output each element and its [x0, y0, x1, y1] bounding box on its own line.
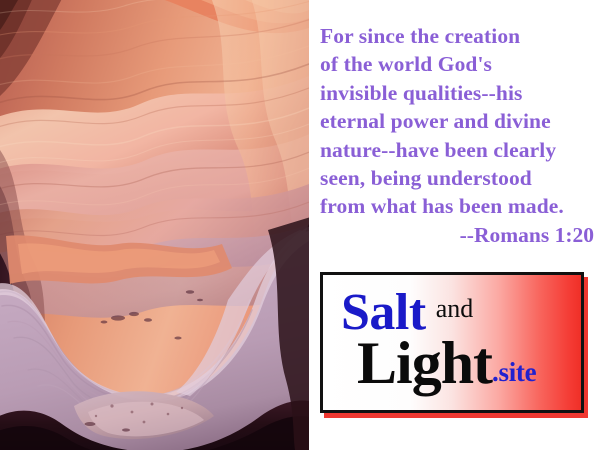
logo-word-light: Light: [357, 330, 492, 396]
verse-attribution: --Romans 1:20: [320, 221, 598, 249]
scripture-verse: For since the creation of the world God'…: [320, 22, 598, 249]
logo-inner: Saltand Light.site: [323, 275, 581, 410]
logo-word-and: and: [436, 294, 474, 323]
poster-canvas: For since the creation of the world God'…: [0, 0, 600, 450]
verse-line: of the world God's: [320, 50, 598, 78]
salt-and-light-site-logo[interactable]: Saltand Light.site: [320, 272, 584, 413]
verse-line: invisible qualities--his: [320, 79, 598, 107]
verse-line: eternal power and divine: [320, 107, 598, 135]
verse-line: from what has been made.: [320, 192, 598, 220]
content-panel: For since the creation of the world God'…: [309, 0, 600, 450]
canyon-illustration: [0, 0, 309, 450]
logo-line-two: Light.site: [357, 333, 536, 393]
verse-line: For since the creation: [320, 22, 598, 50]
logo-word-site: .site: [492, 357, 536, 387]
slot-canyon-photograph: [0, 0, 309, 450]
verse-line: seen, being understood: [320, 164, 598, 192]
verse-line: nature--have been clearly: [320, 136, 598, 164]
